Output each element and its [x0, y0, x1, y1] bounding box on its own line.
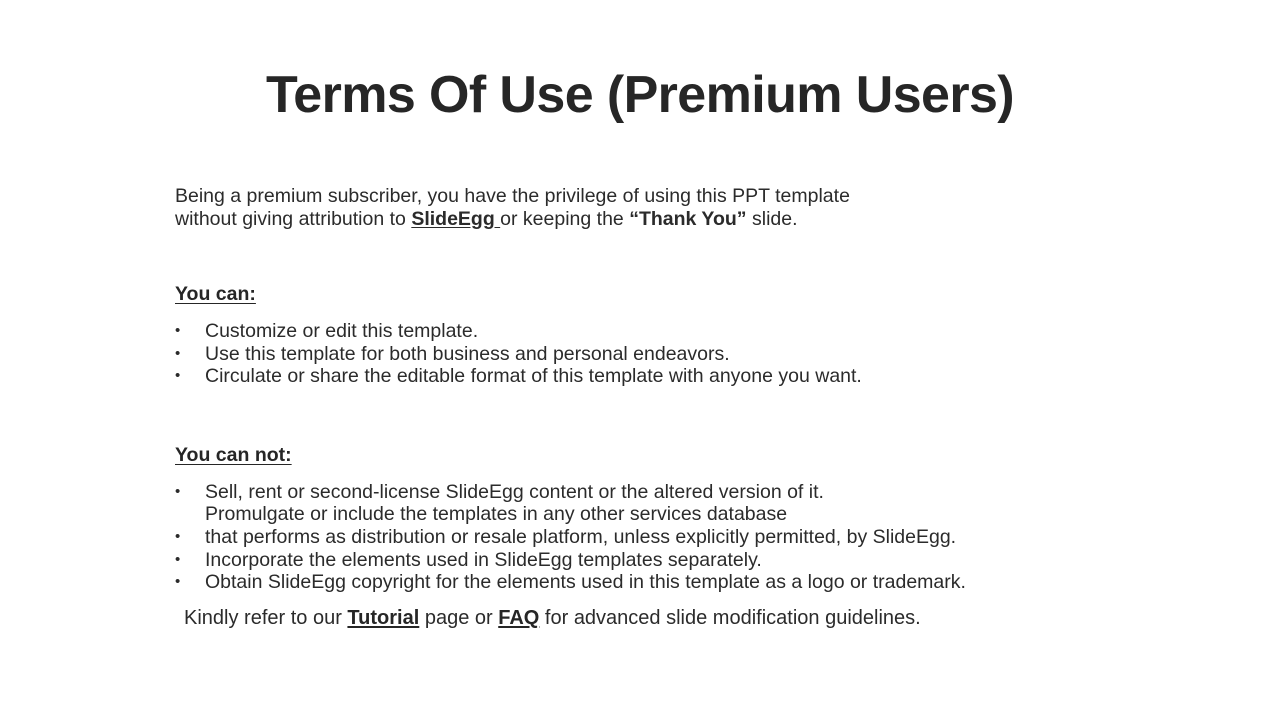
- list-item-label: Customize or edit this template.: [205, 320, 1175, 343]
- intro-line-2-after: slide.: [747, 208, 798, 230]
- list-item: • Incorporate the elements used in Slide…: [175, 549, 1175, 572]
- bullet-icon: •: [175, 549, 205, 572]
- faq-link[interactable]: FAQ: [498, 607, 539, 629]
- you-can-not-heading: You can not:: [175, 444, 1175, 467]
- slideegg-brand-link[interactable]: SlideEgg: [411, 208, 500, 230]
- intro-paragraph: Being a premium subscriber, you have the…: [175, 185, 1175, 231]
- list-item-label: Incorporate the elements used in SlideEg…: [205, 549, 1175, 572]
- intro-line-2-middle: or keeping the: [500, 208, 629, 230]
- slide-body: Being a premium subscriber, you have the…: [175, 185, 1175, 594]
- footer-text-middle: page or: [419, 607, 498, 629]
- list-item-text: Sell, rent or second-license SlideEgg co…: [205, 481, 824, 503]
- list-item: • that performs as distribution or resal…: [175, 526, 1175, 549]
- list-item-label: Obtain SlideEgg copyright for the elemen…: [205, 571, 1175, 594]
- list-item: • Obtain SlideEgg copyright for the elem…: [175, 571, 1175, 594]
- bullet-icon: •: [175, 526, 205, 549]
- bullet-icon: •: [175, 365, 205, 388]
- footer-text-after: for advanced slide modification guidelin…: [539, 607, 920, 629]
- slide-canvas: Terms Of Use (Premium Users) Being a pre…: [0, 0, 1280, 720]
- footer-note: Kindly refer to our Tutorial page or FAQ…: [184, 606, 921, 630]
- intro-line-1: Being a premium subscriber, you have the…: [175, 185, 1175, 208]
- bullet-icon: •: [175, 571, 205, 594]
- list-item: • Customize or edit this template.: [175, 320, 1175, 343]
- tutorial-link[interactable]: Tutorial: [347, 607, 419, 629]
- list-item-label: Sell, rent or second-license SlideEgg co…: [205, 481, 1175, 526]
- list-item-label: Use this template for both business and …: [205, 343, 1175, 366]
- page-title: Terms Of Use (Premium Users): [0, 66, 1280, 126]
- list-item-label: that performs as distribution or resale …: [205, 526, 1175, 549]
- bullet-icon: •: [175, 320, 205, 343]
- list-item-label: Circulate or share the editable format o…: [205, 365, 1175, 388]
- you-can-heading: You can:: [175, 283, 1175, 306]
- list-item: • Circulate or share the editable format…: [175, 365, 1175, 388]
- bullet-icon: •: [175, 481, 205, 504]
- intro-line-2: without giving attribution to SlideEgg o…: [175, 208, 1175, 231]
- bullet-icon: •: [175, 343, 205, 366]
- list-item-continuation: Promulgate or include the templates in a…: [205, 503, 1175, 526]
- you-can-not-list: • Sell, rent or second-license SlideEgg …: [175, 481, 1175, 594]
- thank-you-quote: “Thank You”: [629, 208, 746, 230]
- you-can-list: • Customize or edit this template. • Use…: [175, 320, 1175, 388]
- intro-line-2-before: without giving attribution to: [175, 208, 411, 230]
- list-item: • Use this template for both business an…: [175, 343, 1175, 366]
- footer-text-before: Kindly refer to our: [184, 607, 347, 629]
- list-item: • Sell, rent or second-license SlideEgg …: [175, 481, 1175, 526]
